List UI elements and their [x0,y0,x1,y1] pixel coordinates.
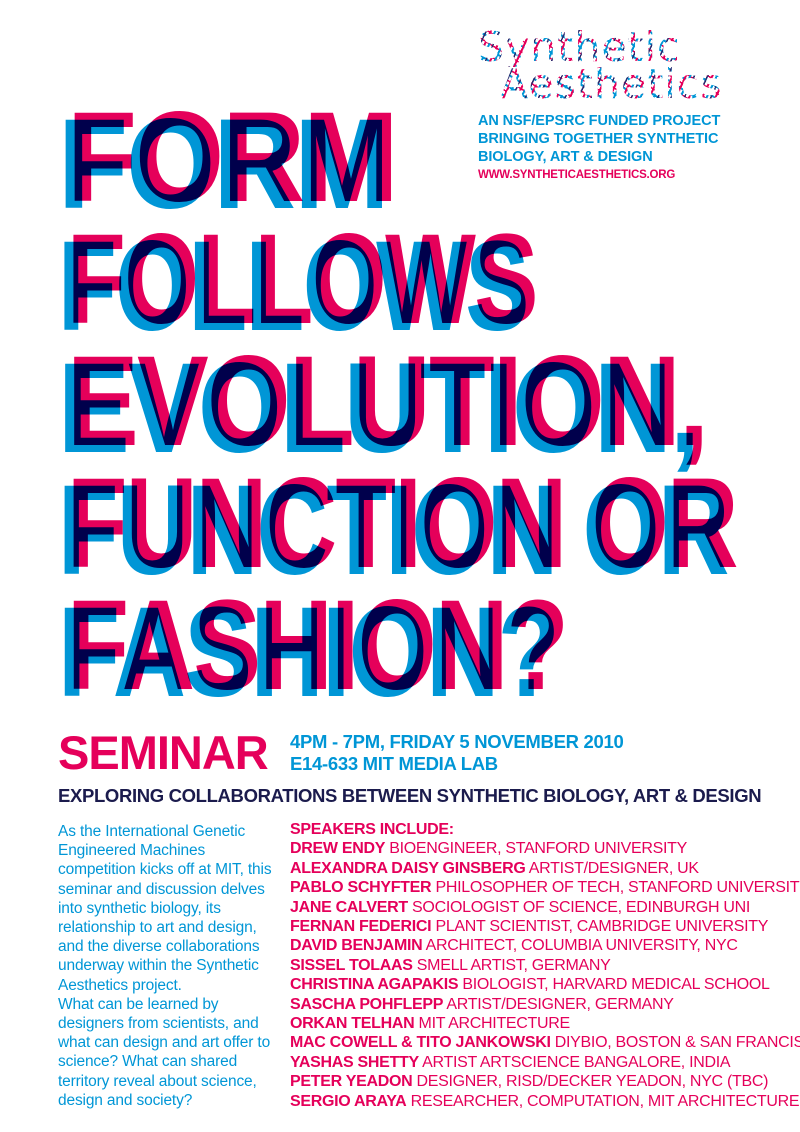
speaker-name: CHRISTINA AGAPAKIS [290,976,458,993]
speaker-name: SASCHA POHFLEPP [290,996,443,1013]
speaker-role: PLANT SCIENTIST, CAMBRIDGE UNIVERSITY [431,918,768,935]
speakers-list: DREW ENDY BIOENGINEER, STANFORD UNIVERSI… [290,839,780,1111]
speaker-name: SERGIO ARAYA [290,1093,406,1110]
speaker-role: DIYBIO, BOSTON & SAN FRANCISCO [551,1034,800,1051]
speaker-name: SISSEL TOLAAS [290,957,413,974]
headline-line-2-magenta-layer: FOLLOWS [67,219,537,341]
speaker-row: PETER YEADON DESIGNER, RISD/DECKER YEADO… [290,1072,780,1091]
speaker-name: PETER YEADON [290,1073,412,1090]
speaker-role: SOCIOLOGIST OF SCIENCE, EDINBURGH UNI [408,899,750,916]
speaker-row: SASCHA POHFLEPP ARTIST/DESIGNER, GERMANY [290,995,780,1014]
speaker-row: MAC COWELL & TITO JANKOWSKI DIYBIO, BOST… [290,1033,780,1052]
speaker-row: ORKAN TELHAN MIT ARCHITECTURE [290,1014,780,1033]
speaker-row: SISSEL TOLAAS SMELL ARTIST, GERMANY [290,956,780,975]
description-paragraph-2: What can be learned by designers from sc… [58,995,286,1110]
speaker-row: SERGIO ARAYA RESEARCHER, COMPUTATION, MI… [290,1092,780,1111]
seminar-subtitle: EXPLORING COLLABORATIONS BETWEEN SYNTHET… [58,785,761,807]
speaker-name: MAC COWELL & TITO JANKOWSKI [290,1034,551,1051]
speaker-name: YASHAS SHETTY [290,1054,419,1071]
speaker-role: BIOLOGIST, HARVARD MEDICAL SCHOOL [458,976,769,993]
seminar-details: 4PM - 7PM, FRIDAY 5 NOVEMBER 2010 E14-63… [290,731,624,774]
speaker-name: DREW ENDY [290,840,385,857]
seminar-time: 4PM - 7PM, FRIDAY 5 NOVEMBER 2010 [290,731,624,753]
speaker-role: RESEARCHER, COMPUTATION, MIT ARCHITECTUR… [406,1093,799,1110]
speaker-row: DAVID BENJAMIN ARCHITECT, COLUMBIA UNIVE… [290,936,780,955]
description-paragraph-1: As the International Genetic Engineered … [58,822,286,995]
speaker-role: ARTIST ARTSCIENCE BANGALORE, INDIA [419,1054,730,1071]
description-column: As the International Genetic Engineered … [58,822,286,1110]
speakers-column: SPEAKERS INCLUDE: DREW ENDY BIOENGINEER,… [290,820,780,1111]
speaker-name: DAVID BENJAMIN [290,937,422,954]
speaker-row: PABLO SCHYFTER PHILOSOPHER OF TECH, STAN… [290,878,780,897]
headline-line-5-magenta-layer: FASHION? [67,585,567,707]
logo-wordmark: Synthetic Aesthetics [478,28,768,104]
poster-canvas: Synthetic Aesthetics AN NSF/EPSRC FUNDED… [0,0,800,1132]
seminar-venue: E14-633 MIT MEDIA LAB [290,753,624,775]
speaker-role: SMELL ARTIST, GERMANY [413,957,611,974]
speaker-role: ARCHITECT, COLUMBIA UNIVERSITY, NYC [422,937,737,954]
headline-line: FASHION? FASHION? [58,592,778,714]
speaker-role: BIOENGINEER, STANFORD UNIVERSITY [385,840,687,857]
speaker-name: ORKAN TELHAN [290,1015,414,1032]
speaker-role: PHILOSOPHER OF TECH, STANFORD UNIVERSITY [431,879,800,896]
speaker-name: JANE CALVERT [290,899,408,916]
speaker-row: YASHAS SHETTY ARTIST ARTSCIENCE BANGALOR… [290,1053,780,1072]
speaker-name: ALEXANDRA DAISY GINSBERG [290,860,526,877]
speaker-row: DREW ENDY BIOENGINEER, STANFORD UNIVERSI… [290,839,780,858]
speaker-row: JANE CALVERT SOCIOLOGIST OF SCIENCE, EDI… [290,898,780,917]
speaker-row: FERNAN FEDERICI PLANT SCIENTIST, CAMBRID… [290,917,780,936]
headline-line-1-magenta-layer: FORM [67,97,397,219]
speaker-row: ALEXANDRA DAISY GINSBERG ARTIST/DESIGNER… [290,859,780,878]
logo-wordmark-line-2: Aesthetics [478,65,768,104]
speaker-row: CHRISTINA AGAPAKIS BIOLOGIST, HARVARD ME… [290,975,780,994]
headline-line-4-magenta-layer: FUNCTION OR [67,463,737,585]
poster-headline: FORM FORM FOLLOWS FOLLOWS EVOLUTION, EVO… [58,104,778,714]
speaker-name: PABLO SCHYFTER [290,879,431,896]
speaker-role: MIT ARCHITECTURE [414,1015,570,1032]
speakers-heading: SPEAKERS INCLUDE: [290,820,780,839]
speaker-role: DESIGNER, RISD/DECKER YEADON, NYC (TBC) [412,1073,768,1090]
headline-line-3-magenta-layer: EVOLUTION, [67,341,707,463]
seminar-label: SEMINAR [58,728,268,778]
speaker-role: ARTIST/DESIGNER, UK [526,860,699,877]
speaker-role: ARTIST/DESIGNER, GERMANY [443,996,673,1013]
speaker-name: FERNAN FEDERICI [290,918,431,935]
